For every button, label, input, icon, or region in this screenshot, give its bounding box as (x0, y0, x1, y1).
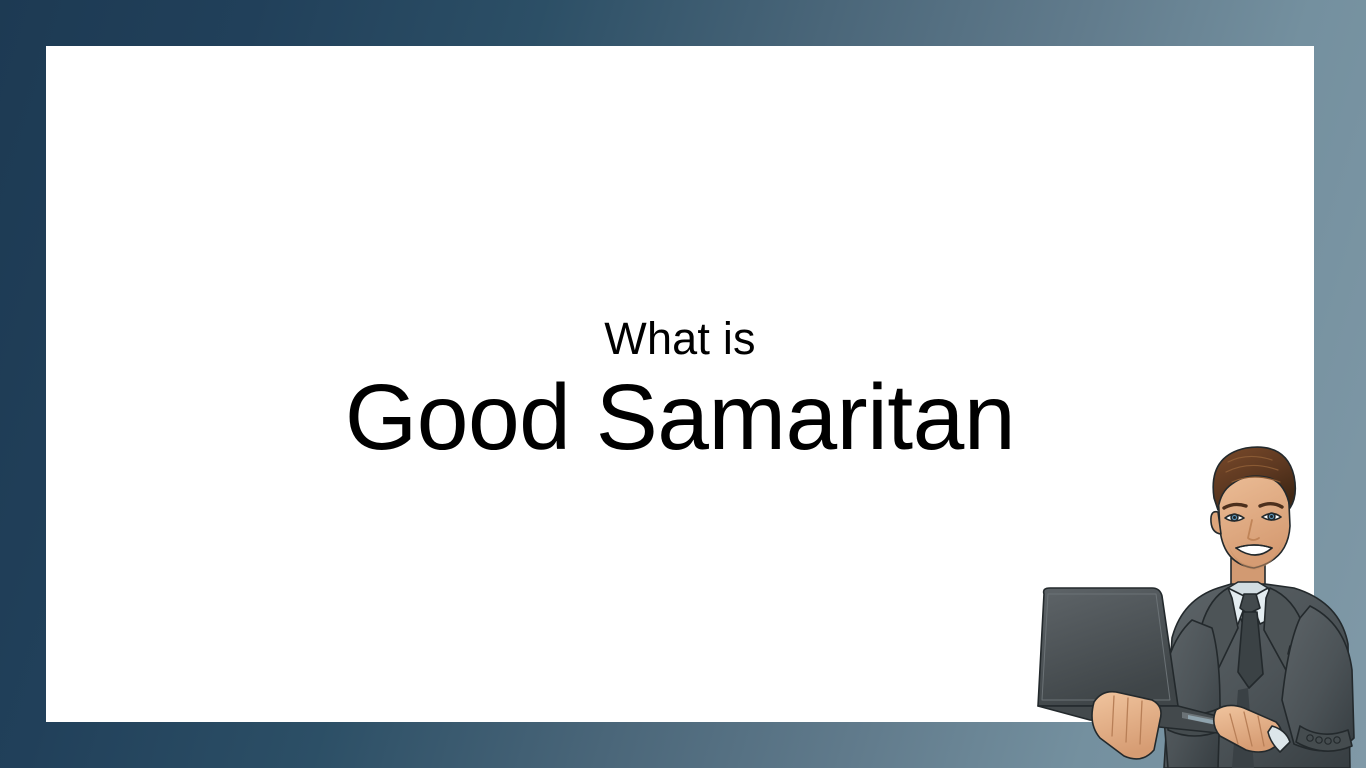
presentation-slide: What is Good Samaritan (0, 0, 1366, 768)
cuff-buttons (1307, 735, 1340, 744)
shirt-cuff-right (1268, 726, 1290, 752)
title-line-good-samaritan: Good Samaritan (46, 365, 1314, 469)
slide-title-block: What is Good Samaritan (46, 312, 1314, 469)
sleeve-cuff-right (1296, 726, 1352, 751)
title-line-what-is: What is (46, 312, 1314, 365)
slide-content-panel: What is Good Samaritan (46, 46, 1314, 722)
